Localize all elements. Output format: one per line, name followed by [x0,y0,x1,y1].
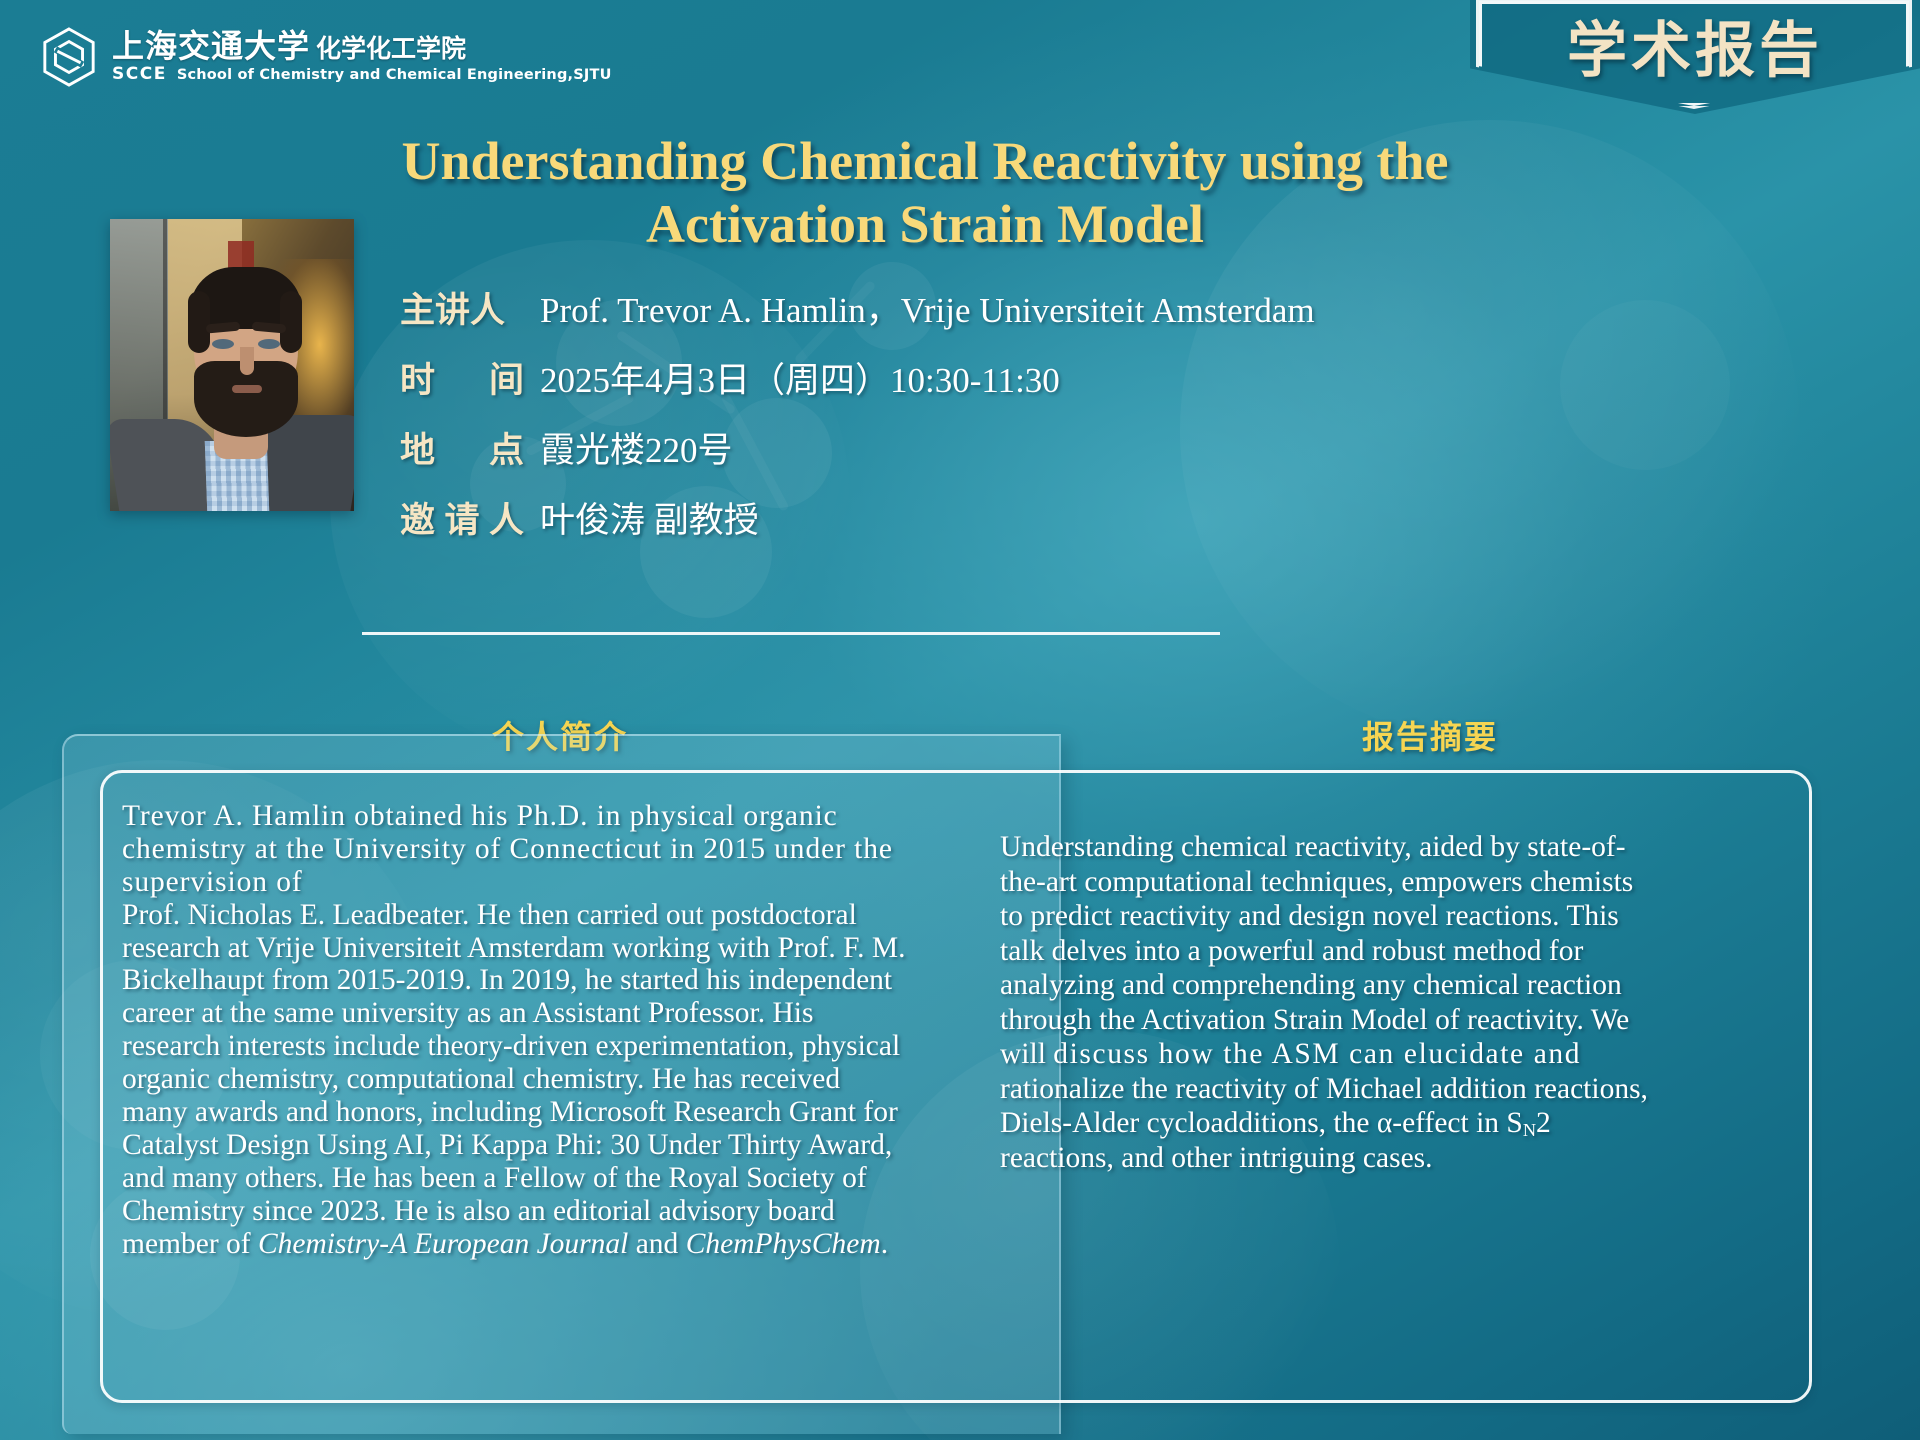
detail-row-time: 时 间 2025年4月3日（周四）10:30-11:30 [400,352,1500,403]
photo-eye-left [212,339,234,349]
detail-value-location: 霞光楼220号 [540,422,733,473]
event-details: 主讲人 Prof. Trevor A. Hamlin，Vrije Univers… [400,282,1500,562]
detail-value-time: 2025年4月3日（周四）10:30-11:30 [540,352,1060,403]
logo-chinese-line: 上海交通大学化学化工学院 [112,30,612,63]
abstract-section-heading: 报告摘要 [1362,712,1498,758]
detail-row-inviter: 邀 请 人 叶俊涛 副教授 [400,492,1500,543]
logo-school-name-cn: 化学化工学院 [316,34,466,63]
abstract-part-tracked: discuss how the ASM can elucidate and [1053,1038,1581,1070]
speaker-photo [110,219,354,511]
biography-lead: Trevor A. Hamlin obtained his Ph.D. in p… [122,800,893,898]
logo-university-name-cn: 上海交通大学 [112,27,310,65]
detail-row-speaker: 主讲人 Prof. Trevor A. Hamlin，Vrije Univers… [400,282,1500,333]
abstract-subscript: N [1523,1120,1536,1140]
photo-mouth [232,385,262,393]
detail-label-location: 地 点 [400,422,524,473]
abstract-part-1: Understanding chemical reactivity, aided… [1000,831,1633,1070]
academic-lecture-banner: 学术报告 [1470,0,1920,114]
detail-label-time-char2: 间 [489,352,524,403]
detail-label-inviter-char2: 请 [444,492,479,543]
photo-hair-right [280,291,302,353]
detail-label-location-char1: 地 [400,422,435,473]
title-line-2: Activation Strain Model [300,193,1550,256]
molecule-atom-icon [1560,300,1730,470]
banner-label: 学术报告 [1470,2,1920,89]
detail-label-inviter: 邀 请 人 [400,492,524,543]
biography-text: Trevor A. Hamlin obtained his Ph.D. in p… [122,800,912,1260]
detail-row-location: 地 点 霞光楼220号 [400,422,1500,473]
journal-name-1: Chemistry-A European Journal [258,1228,628,1260]
journal-name-2: ChemPhysChem [686,1228,881,1260]
photo-hair-left [188,291,210,353]
detail-label-inviter-char1: 邀 [400,492,435,543]
logo-school-name-en: School of Chemistry and Chemical Enginee… [177,67,612,83]
page-title: Understanding Chemical Reactivity using … [300,130,1550,255]
abstract-text: Understanding chemical reactivity, aided… [1000,830,1650,1176]
detail-label-location-char2: 点 [489,422,524,473]
detail-label-time: 时 间 [400,352,524,403]
biography-tail: . [881,1228,888,1260]
detail-label-time-char1: 时 [400,352,435,403]
detail-label-speaker: 主讲人 [400,282,524,333]
photo-eye-right [258,339,280,349]
photo-nose [240,347,254,375]
logo-abbrev: SCCE [112,64,167,84]
biography-body: Prof. Nicholas E. Leadbeater. He then ca… [122,899,905,1260]
detail-value-inviter: 叶俊涛 副教授 [540,492,759,543]
scce-sjtu-logo: 上海交通大学化学化工学院 SCCE School of Chemistry an… [40,26,612,88]
section-divider [362,632,1220,635]
biography-conjunction: and [628,1228,685,1260]
seminar-poster: 上海交通大学化学化工学院 SCCE School of Chemistry an… [0,0,1920,1440]
title-line-1: Understanding Chemical Reactivity using … [300,130,1550,193]
hexagon-logo-icon [40,26,98,88]
detail-label-inviter-char3: 人 [489,492,524,543]
detail-value-speaker: Prof. Trevor A. Hamlin，Vrije Universitei… [540,282,1315,333]
